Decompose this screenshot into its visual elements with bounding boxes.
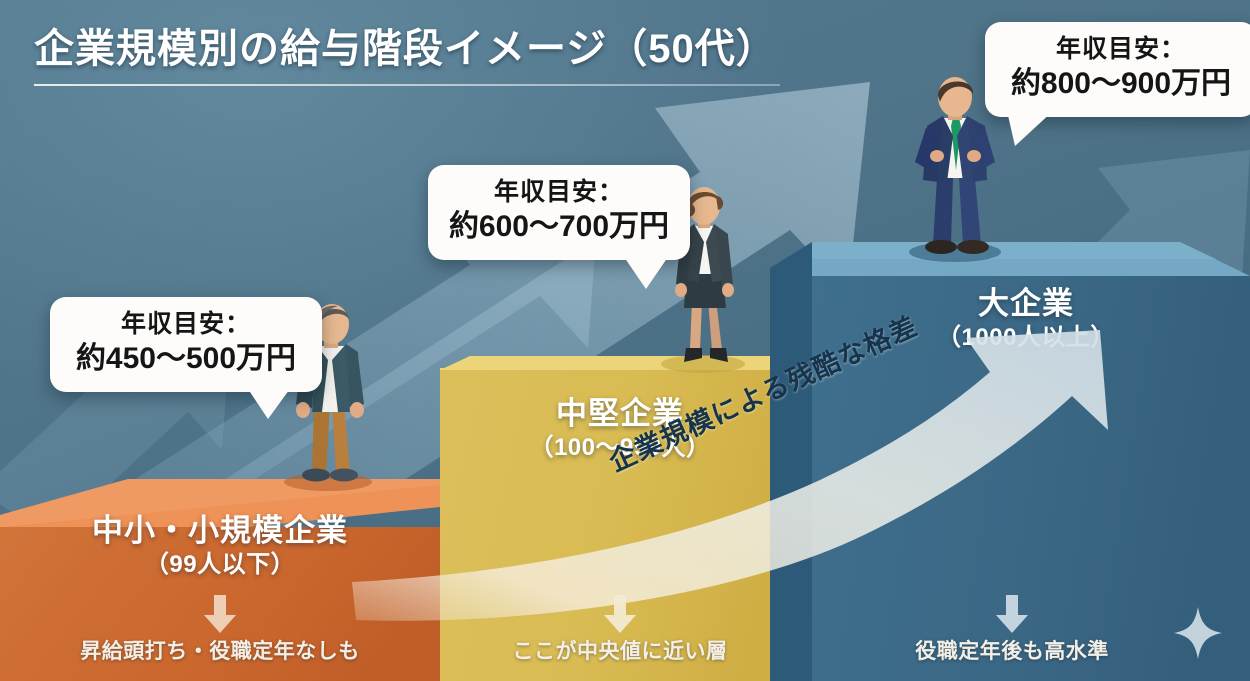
caption-column-mid: ここが中央値に近い層 [440, 591, 800, 681]
bubble-tail [999, 111, 1055, 147]
infographic-canvas: 企業規模別の給与階段イメージ（50代） 中小・小規模企業 （99人以下） [0, 0, 1250, 681]
title-divider [34, 84, 780, 86]
page-title: 企業規模別の給与階段イメージ（50代） [34, 16, 794, 74]
caption-large: 役職定年後も高水準 [812, 635, 1212, 665]
bubble-tail [246, 386, 300, 420]
bubble-tail [622, 254, 678, 290]
down-arrow-icon [995, 595, 1029, 635]
gap-ribbon-arrow [300, 330, 1190, 630]
caption-mid: ここが中央値に近い層 [440, 635, 800, 665]
caption-small: 昇給頭打ち・役職定年なしも [0, 635, 440, 665]
down-arrow-icon [203, 595, 237, 635]
salary-bubble-large[interactable]: 年収目安： 約800〜900万円 [985, 22, 1250, 117]
salary-bubble-mid-label: 年収目安： [448, 177, 670, 208]
title-block: 企業規模別の給与階段イメージ（50代） [34, 16, 794, 86]
salary-bubble-large-value: 約800〜900万円 [1005, 65, 1237, 103]
caption-column-large: 役職定年後も高水準 [812, 591, 1212, 681]
salary-bubble-small[interactable]: 年収目安： 約450〜500万円 [50, 297, 322, 392]
salary-bubble-large-label: 年収目安： [1005, 34, 1237, 65]
down-arrow-icon [603, 595, 637, 635]
salary-bubble-mid[interactable]: 年収目安： 約600〜700万円 [428, 165, 690, 260]
salary-bubble-small-value: 約450〜500万円 [70, 340, 302, 378]
salary-bubble-mid-value: 約600〜700万円 [448, 208, 670, 246]
salary-bubble-small-label: 年収目安： [70, 309, 302, 340]
caption-column-small: 昇給頭打ち・役職定年なしも [0, 591, 440, 681]
